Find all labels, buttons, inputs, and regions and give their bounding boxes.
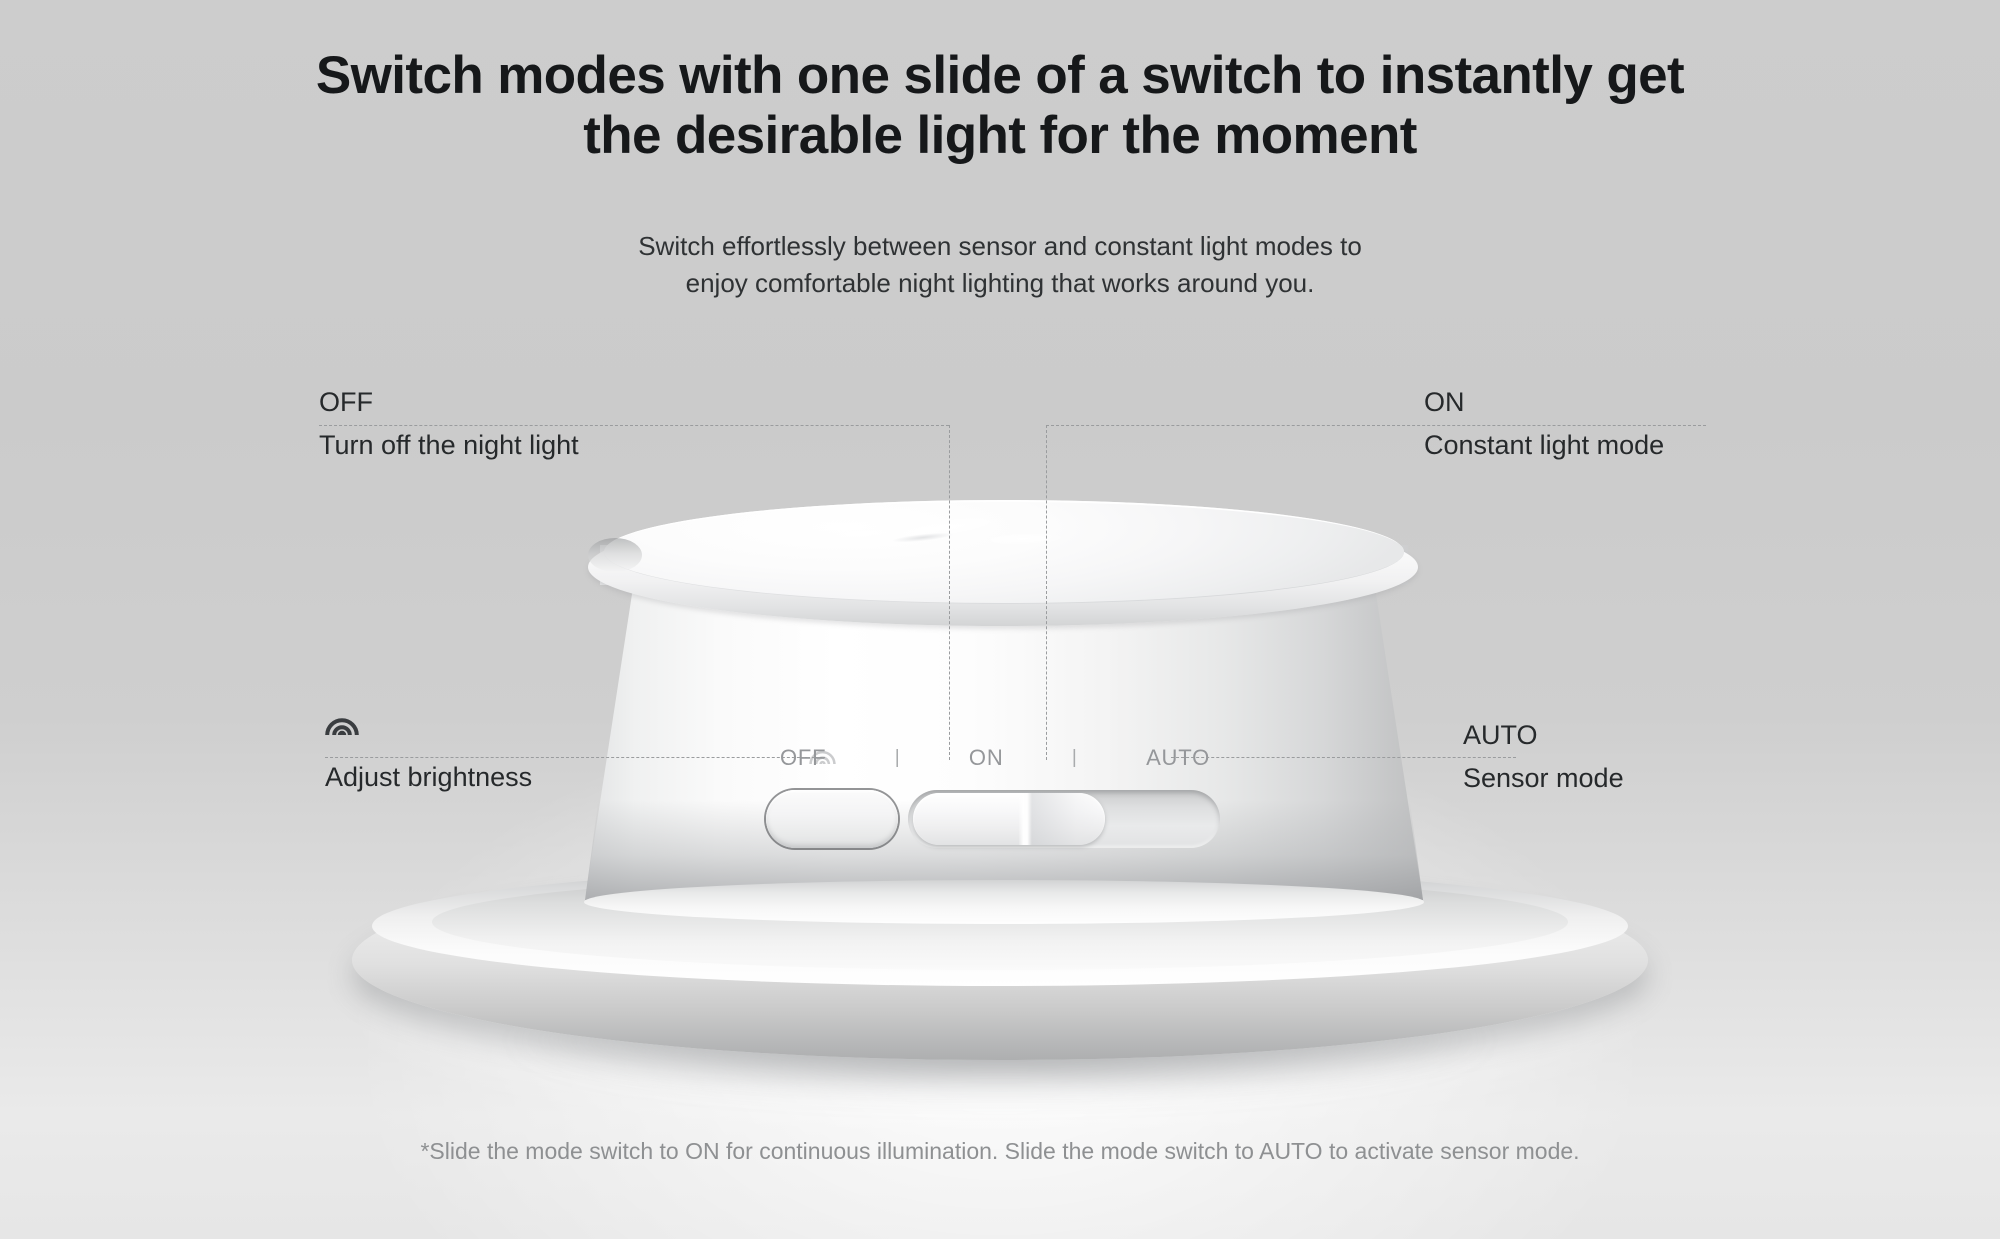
brightness-button[interactable]	[766, 790, 898, 848]
callout-on: ON Constant light mode	[1424, 389, 1664, 459]
device-mark-separator-2: |	[1072, 747, 1078, 769]
device-mark-on: ON	[969, 745, 1004, 771]
callout-off: OFF Turn off the night light	[319, 389, 579, 459]
callout-off-desc: Turn off the night light	[319, 432, 579, 459]
callout-on-desc: Constant light mode	[1424, 432, 1664, 459]
night-light-device: OFF | ON | AUTO	[0, 0, 2000, 1239]
callout-auto-title: AUTO	[1463, 722, 1624, 749]
leader-line-on-vertical	[1046, 425, 1047, 760]
callout-brightness: Adjust brightness	[325, 764, 532, 791]
callout-off-title: OFF	[319, 389, 579, 416]
mode-switch-grip	[1019, 793, 1032, 845]
device-mode-markings: OFF | ON | AUTO	[780, 744, 1210, 772]
callout-auto-desc: Sensor mode	[1463, 765, 1624, 792]
device-mark-auto: AUTO	[1146, 745, 1210, 771]
callout-brightness-desc: Adjust brightness	[325, 764, 532, 791]
callout-on-title: ON	[1424, 389, 1664, 416]
device-lid-notch	[588, 538, 642, 572]
device-body-foot-ring	[584, 880, 1424, 924]
mode-switch-thumb-shading	[1032, 793, 1106, 845]
leader-line-brightness	[325, 757, 825, 758]
callout-auto: AUTO Sensor mode	[1463, 722, 1624, 792]
leader-line-off-vertical	[949, 425, 950, 760]
device-mark-off: OFF	[780, 745, 826, 771]
device-lid-edge	[604, 500, 1404, 604]
device-mark-separator-1: |	[895, 747, 901, 769]
brightness-arc-icon	[325, 715, 359, 736]
product-feature-graphic: Switch modes with one slide of a switch …	[0, 0, 2000, 1239]
